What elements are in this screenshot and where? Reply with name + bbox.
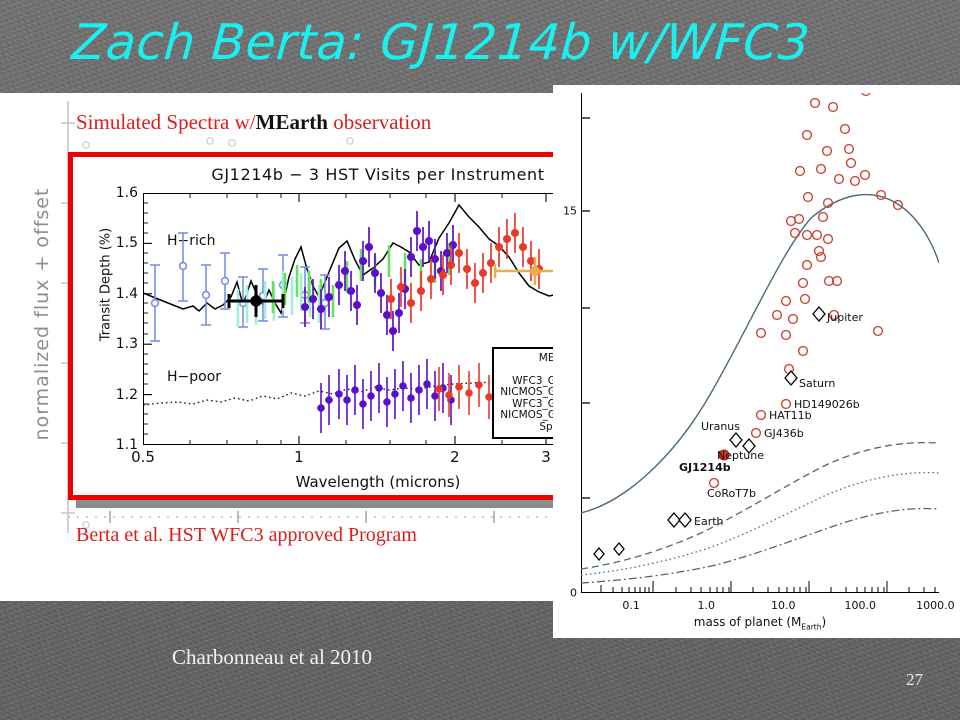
page-number: 27: [906, 670, 923, 690]
mr-xtick-1.0: 1.0: [698, 599, 716, 612]
caption-top-prefix: Simulated Spectra w/: [76, 110, 256, 134]
mr-label-corot7b: CoRoT7b: [707, 487, 756, 500]
inset-ytick-1.2: 1.2: [116, 387, 138, 403]
mr-ytick-0: 0: [570, 587, 577, 600]
inset-ylabel: Transit Depth (%): [99, 190, 114, 380]
caption-top-bold: MEarth: [256, 110, 328, 134]
inset-xtick-1: 1: [294, 448, 304, 466]
inset-ytick-1.5: 1.5: [116, 235, 138, 251]
caption-simulated-spectra: Simulated Spectra w/MEarth observation: [76, 110, 431, 135]
mr-label-gj436b: GJ436b: [764, 427, 804, 440]
mass-radius-plot-area: 0 15 0.1 1.0 10.0 100.0 1000.0 mass of p…: [581, 93, 939, 593]
inset-xtick-3: 3: [541, 448, 551, 466]
mr-label-saturn: Saturn: [799, 377, 835, 390]
mr-ytick-15: 15: [563, 204, 577, 217]
mr-label-uranus: Uranus: [701, 420, 740, 433]
mr-xtick-1000.0: 1000.0: [916, 599, 955, 612]
mass-radius-figure: 0 15 0.1 1.0 10.0 100.0 1000.0 mass of p…: [553, 85, 960, 638]
inset-ytick-1.3: 1.3: [116, 336, 138, 352]
mr-label-earth: Earth: [694, 515, 724, 528]
page-title: Zach Berta: GJ1214b w/WFC3: [70, 14, 812, 71]
title-bar: Zach Berta: GJ1214b w/WFC3: [0, 0, 960, 88]
mr-label-gj1214b: GJ1214b: [679, 461, 731, 474]
source-credit: Charbonneau et al 2010: [172, 645, 372, 670]
caption-berta-program: Berta et al. HST WFC3 approved Program: [76, 524, 417, 547]
inset-ytick-1.4: 1.4: [116, 286, 138, 302]
mr-xtick-100.0: 100.0: [844, 599, 876, 612]
mr-xtick-10.0: 10.0: [771, 599, 796, 612]
inset-xtick-0.5: 0.5: [131, 448, 155, 466]
mass-radius-canvas: [581, 93, 939, 593]
caption-top-suffix: observation: [328, 110, 431, 134]
inset-xtick-2: 2: [450, 448, 460, 466]
mr-label-hat11b: HAT11b: [769, 409, 812, 422]
mr-xtick-0.1: 0.1: [622, 599, 640, 612]
inset-ytick-1.6: 1.6: [116, 185, 138, 201]
mr-xlabel: mass of planet (MEarth): [581, 615, 939, 631]
mr-label-jupiter: Jupiter: [827, 311, 863, 324]
